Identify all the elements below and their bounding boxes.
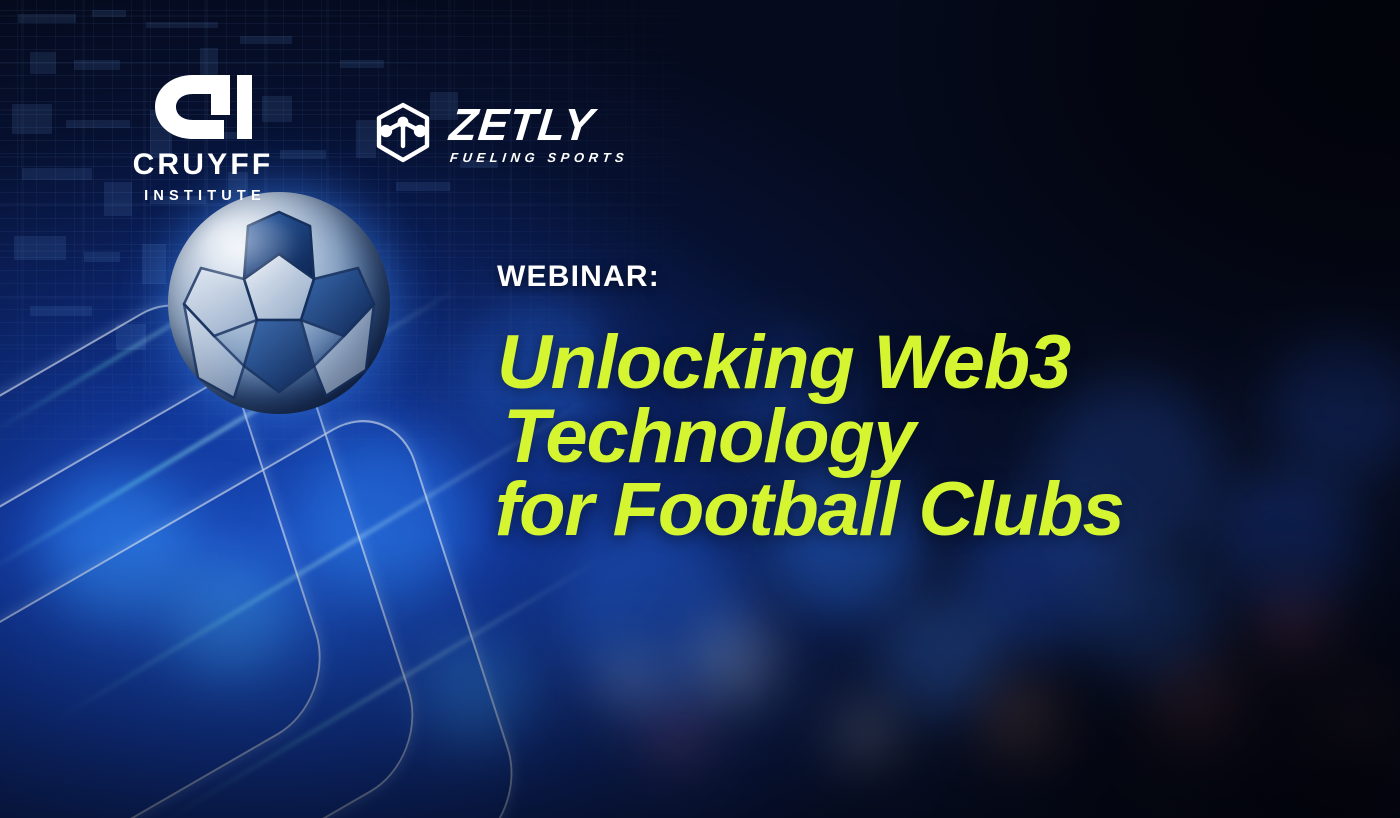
cruyff-institute-logo: CRUYFF INSTITUTE [128,72,278,204]
headline-line-2: Technology [503,400,1297,474]
webinar-promo-poster: CRUYFF INSTITUTE ZETLY FUELING SPORTS WE… [0,0,1400,818]
headline-line-3: for Football Clubs [495,473,1297,547]
eyebrow-label: WEBINAR: [497,262,1297,292]
headline-block: WEBINAR: Unlocking Web3 Technology for F… [497,262,1297,547]
soccer-ball-icon [168,192,390,414]
page-title: Unlocking Web3 Technology for Football C… [497,326,1297,547]
headline-line-1: Unlocking Web3 [497,326,1297,400]
zetly-hexagon-cube-node-icon [372,100,434,168]
cruyff-subtitle: INSTITUTE [128,189,278,204]
zetly-wordmark: ZETLY [448,104,631,145]
cruyff-wordmark: CRUYFF [128,150,278,180]
zetly-tagline: FUELING SPORTS [449,151,629,164]
cruyff-ci-monogram-icon [151,72,255,142]
zetly-logo: ZETLY FUELING SPORTS [372,100,628,168]
